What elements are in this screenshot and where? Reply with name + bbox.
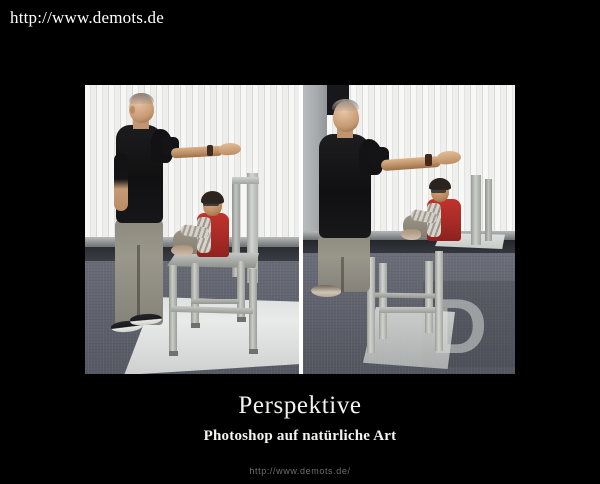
standing-man-watch — [207, 145, 213, 156]
chair-back-post — [471, 175, 481, 245]
seated-person-glasses — [431, 189, 446, 193]
poster-subtitle: Photoshop auf natürliche Art — [0, 426, 600, 446]
seated-person-glasses — [203, 202, 219, 206]
top-watermark: http://www.demots.de — [10, 8, 164, 28]
chair-back-rail — [232, 177, 259, 184]
chair-frame-rail-lower — [379, 307, 435, 313]
standing-man-hair — [332, 99, 359, 111]
poster-title: Perspektive — [0, 392, 600, 420]
chair-frame-post-inner-left — [379, 263, 387, 339]
footer-url: http://www.demots.de/ — [0, 466, 600, 476]
chair-rail-rear — [191, 299, 239, 304]
chair-foot-3 — [191, 323, 200, 328]
standing-man-ear — [130, 106, 135, 114]
photo-right: D — [303, 85, 515, 374]
standing-man-arm-left — [114, 153, 128, 211]
seated-person-shoe — [171, 245, 193, 256]
chair-leg-rear-left — [191, 263, 199, 325]
photo-pair: D — [85, 85, 515, 374]
chair-frame-rail-upper — [373, 292, 435, 298]
chair-frame-post-right — [435, 251, 443, 351]
photo-left — [85, 85, 299, 374]
chair-foot-4 — [237, 317, 246, 322]
standing-man-watch — [425, 154, 432, 166]
standing-man-trousers — [318, 234, 370, 292]
standing-man-leg-seam — [341, 257, 344, 292]
chair-foot-1 — [169, 351, 178, 356]
standing-man-leg-seam — [137, 245, 140, 325]
chair-back-post-rear — [485, 179, 492, 241]
seated-person-shoe — [401, 229, 421, 240]
chair-foot-2 — [249, 349, 258, 354]
standing-man-hair — [129, 93, 154, 104]
poster-photo-frame: D — [85, 85, 515, 374]
standing-man-shoe — [311, 285, 341, 297]
caption-block: Perspektive Photoshop auf natürliche Art — [0, 392, 600, 446]
